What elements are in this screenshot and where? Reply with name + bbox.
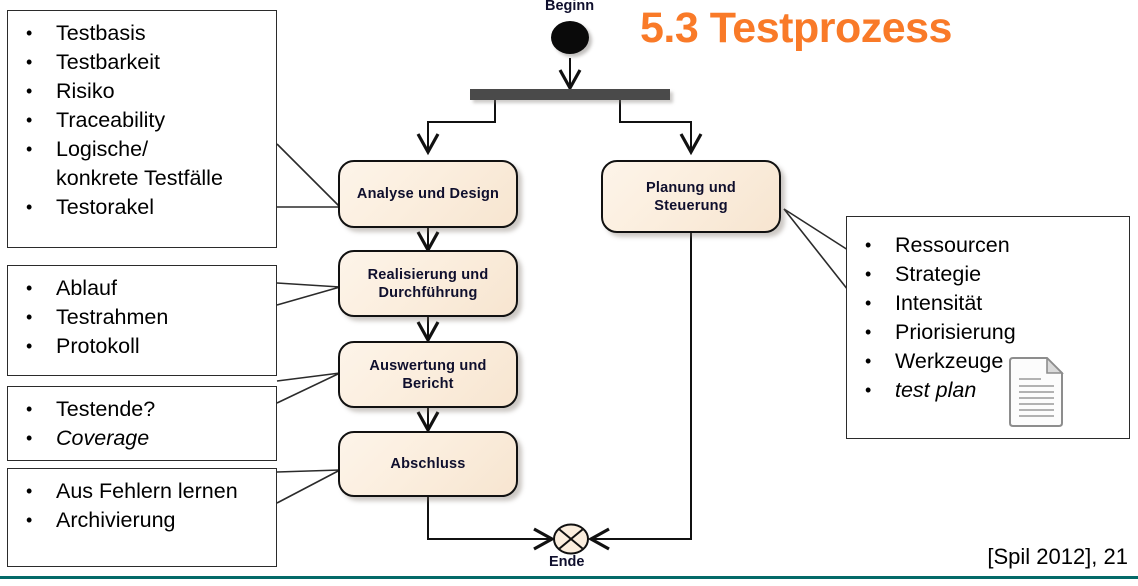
footer-rule <box>0 576 1138 579</box>
list-item: •Coverage <box>20 424 266 453</box>
tail-planung <box>784 209 848 290</box>
activity-label: Abschluss <box>382 455 473 473</box>
activity-label: Planung und Steuerung <box>638 179 744 215</box>
list-item: •konkrete Testfälle <box>20 164 266 193</box>
testende-callout[interactable]: •Testende?•Coverage <box>7 386 277 461</box>
list-item: •Aus Fehlern lernen <box>20 477 266 506</box>
list-item: •Werkzeuge <box>859 347 1119 376</box>
activity-label: Realisierung und Durchführung <box>360 266 497 302</box>
bullet-icon: • <box>20 506 56 535</box>
bullet-icon: • <box>859 231 895 260</box>
bullet-icon: • <box>20 106 56 135</box>
tail-testende <box>277 373 340 403</box>
ablauf-callout[interactable]: •Ablauf•Testrahmen•Protokoll <box>7 265 277 376</box>
end-node-shape <box>554 525 588 554</box>
planung-callout[interactable]: •Ressourcen•Strategie•Intensität•Prioris… <box>846 216 1130 439</box>
list-item-label: Logische/ <box>56 135 266 164</box>
list-item-label: Intensität <box>895 289 1119 318</box>
edge-fork-to-analyse <box>428 100 495 152</box>
activity-planung-und-steuerung[interactable]: Planung und Steuerung <box>601 160 781 233</box>
activity-label: Analyse und Design <box>349 185 507 203</box>
list-item-label: Aus Fehlern lernen <box>56 477 266 506</box>
bullet-icon: • <box>20 424 56 453</box>
bullet-icon: • <box>20 332 56 361</box>
bullet-icon: • <box>20 193 56 222</box>
bullet-icon: • <box>20 303 56 332</box>
list-item-label: Testbarkeit <box>56 48 266 77</box>
bullet-icon: • <box>20 477 56 506</box>
list-item: •Archivierung <box>20 506 266 535</box>
list-item-label: Testende? <box>56 395 266 424</box>
start-node <box>551 21 589 54</box>
bullet-icon: • <box>20 48 56 77</box>
list-item-label: Ablauf <box>56 274 266 303</box>
bullet-icon: • <box>20 77 56 106</box>
planung-list: •Ressourcen•Strategie•Intensität•Prioris… <box>859 231 1119 405</box>
bullet-icon: • <box>20 274 56 303</box>
end-node-label: Ende <box>549 554 584 570</box>
edge-fork-to-planung <box>620 100 691 152</box>
edge-planung-to-ende <box>591 233 691 539</box>
list-item-label: Coverage <box>56 424 266 453</box>
list-item: •Ressourcen <box>859 231 1119 260</box>
tail-ablauf <box>277 283 340 305</box>
tail-fehler <box>277 470 340 503</box>
activity-analyse-und-design[interactable]: Analyse und Design <box>338 160 518 228</box>
list-item: •Risiko <box>20 77 266 106</box>
list-item: •Testrahmen <box>20 303 266 332</box>
list-item: •Testorakel <box>20 193 266 222</box>
list-item-label: Priorisierung <box>895 318 1119 347</box>
footer-reference: [Spil 2012], 21 <box>987 544 1128 570</box>
bullet-icon: • <box>859 260 895 289</box>
fehler-callout[interactable]: •Aus Fehlern lernen•Archivierung <box>7 468 277 567</box>
slide-canvas: 5.3 Testprozess Beginn Ende Analyse und … <box>0 0 1138 586</box>
fehler-list: •Aus Fehlern lernen•Archivierung <box>20 477 266 535</box>
bullet-icon: • <box>20 395 56 424</box>
start-node-label: Beginn <box>545 0 594 14</box>
activity-abschluss[interactable]: Abschluss <box>338 431 518 497</box>
bullet-icon: • <box>859 318 895 347</box>
list-item: •Priorisierung <box>859 318 1119 347</box>
tail-testbasis <box>277 144 340 207</box>
bullet-icon: • <box>20 135 56 164</box>
list-item-label: konkrete Testfälle <box>56 164 266 193</box>
activity-label: Auswertung und Bericht <box>361 357 494 393</box>
list-item-label: Testrahmen <box>56 303 266 332</box>
testbasis-callout[interactable]: •Testbasis•Testbarkeit•Risiko•Traceabili… <box>7 10 277 248</box>
page-title: 5.3 Testprozess <box>640 4 952 53</box>
list-item: •Testende? <box>20 395 266 424</box>
testbasis-list: •Testbasis•Testbarkeit•Risiko•Traceabili… <box>20 19 266 222</box>
bullet-icon: • <box>859 347 895 376</box>
list-item-label: Testorakel <box>56 193 266 222</box>
list-item: •Testbasis <box>20 19 266 48</box>
bullet-icon: • <box>859 289 895 318</box>
list-item: •Traceability <box>20 106 266 135</box>
list-item-label: Traceability <box>56 106 266 135</box>
fork-bar <box>470 89 670 100</box>
list-item: •Ablauf <box>20 274 266 303</box>
list-item: •Intensität <box>859 289 1119 318</box>
testende-list: •Testende?•Coverage <box>20 395 266 453</box>
list-item-label: Protokoll <box>56 332 266 361</box>
list-item: •Protokoll <box>20 332 266 361</box>
list-item-label: Testbasis <box>56 19 266 48</box>
ablauf-list: •Ablauf•Testrahmen•Protokoll <box>20 274 266 361</box>
list-item: •test plan <box>859 376 1119 405</box>
list-item-label: Risiko <box>56 77 266 106</box>
activity-auswertung-und-bericht[interactable]: Auswertung und Bericht <box>338 341 518 408</box>
list-item-label: Strategie <box>895 260 1119 289</box>
edge-abschluss-to-ende <box>428 497 552 539</box>
bullet-icon: • <box>859 376 895 405</box>
list-item: •Testbarkeit <box>20 48 266 77</box>
activity-realisierung-und-durchfuehrung[interactable]: Realisierung und Durchführung <box>338 250 518 317</box>
list-item: •Logische/ <box>20 135 266 164</box>
list-item-label: Archivierung <box>56 506 266 535</box>
bullet-icon: • <box>20 19 56 48</box>
document-icon <box>1007 357 1065 429</box>
list-item: •Strategie <box>859 260 1119 289</box>
list-item-label: Ressourcen <box>895 231 1119 260</box>
